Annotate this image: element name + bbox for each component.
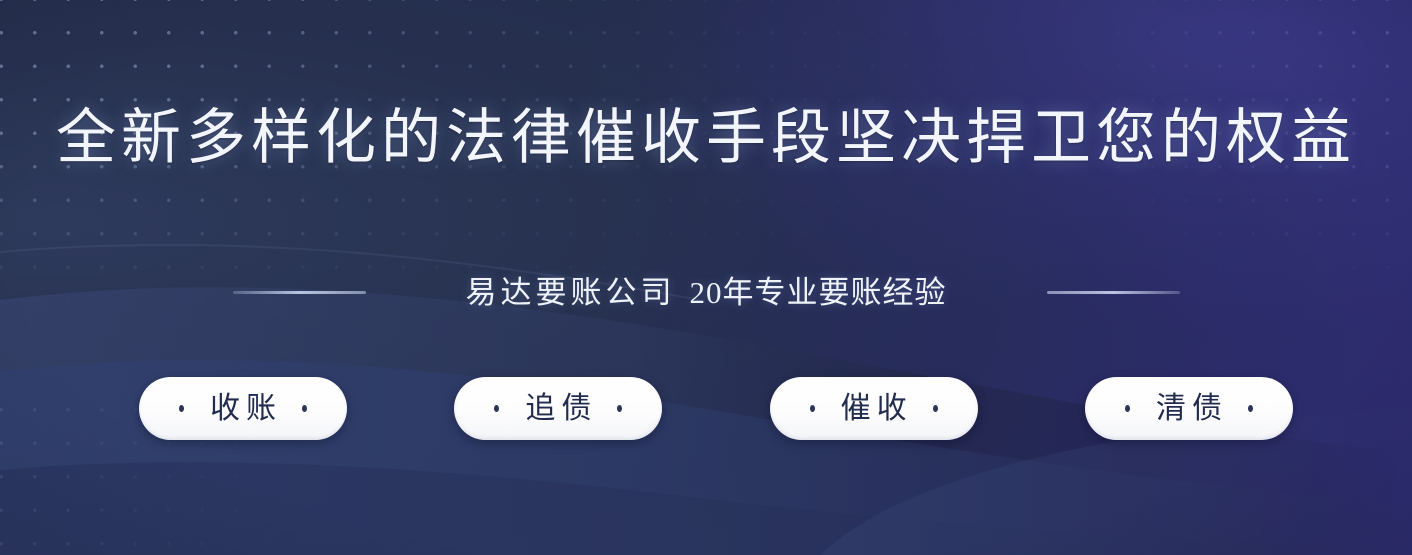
service-pill-label: 清债 xyxy=(1150,394,1228,424)
service-pill-label: 催收 xyxy=(835,394,913,424)
service-pill-qingzhai[interactable]: 清债 xyxy=(1085,377,1293,440)
decorative-rule-right xyxy=(1047,291,1180,294)
decorative-rule-left xyxy=(233,291,366,294)
service-pill-group: 收账 追债 催收 清债 xyxy=(139,377,1293,440)
subtitle-experience: 20年专业要账经验 xyxy=(690,275,947,310)
bullet-dot-icon xyxy=(810,405,815,412)
service-pill-shouzhang[interactable]: 收账 xyxy=(139,377,347,440)
bullet-dot-icon xyxy=(617,405,622,412)
bullet-dot-icon xyxy=(302,405,307,412)
banner-subtitle: 易达要账公司20年专业要账经验 xyxy=(466,277,947,308)
banner-subtitle-row: 易达要账公司20年专业要账经验 xyxy=(0,267,1412,317)
promo-banner: 全新多样化的法律催收手段坚决捍卫您的权益 易达要账公司20年专业要账经验 收账 … xyxy=(0,0,1412,555)
bullet-dot-icon xyxy=(1248,405,1253,412)
service-pill-label: 收账 xyxy=(204,394,282,424)
bullet-dot-icon xyxy=(1125,405,1130,412)
banner-content: 全新多样化的法律催收手段坚决捍卫您的权益 易达要账公司20年专业要账经验 收账 … xyxy=(0,0,1412,555)
bullet-dot-icon xyxy=(933,405,938,412)
subtitle-company: 易达要账公司 xyxy=(466,275,676,310)
service-pill-cuishou[interactable]: 催收 xyxy=(770,377,978,440)
bullet-dot-icon xyxy=(494,405,499,412)
service-pill-zhuizhai[interactable]: 追债 xyxy=(454,377,662,440)
banner-headline: 全新多样化的法律催收手段坚决捍卫您的权益 xyxy=(0,108,1412,168)
bullet-dot-icon xyxy=(179,405,184,412)
service-pill-label: 追债 xyxy=(519,394,597,424)
